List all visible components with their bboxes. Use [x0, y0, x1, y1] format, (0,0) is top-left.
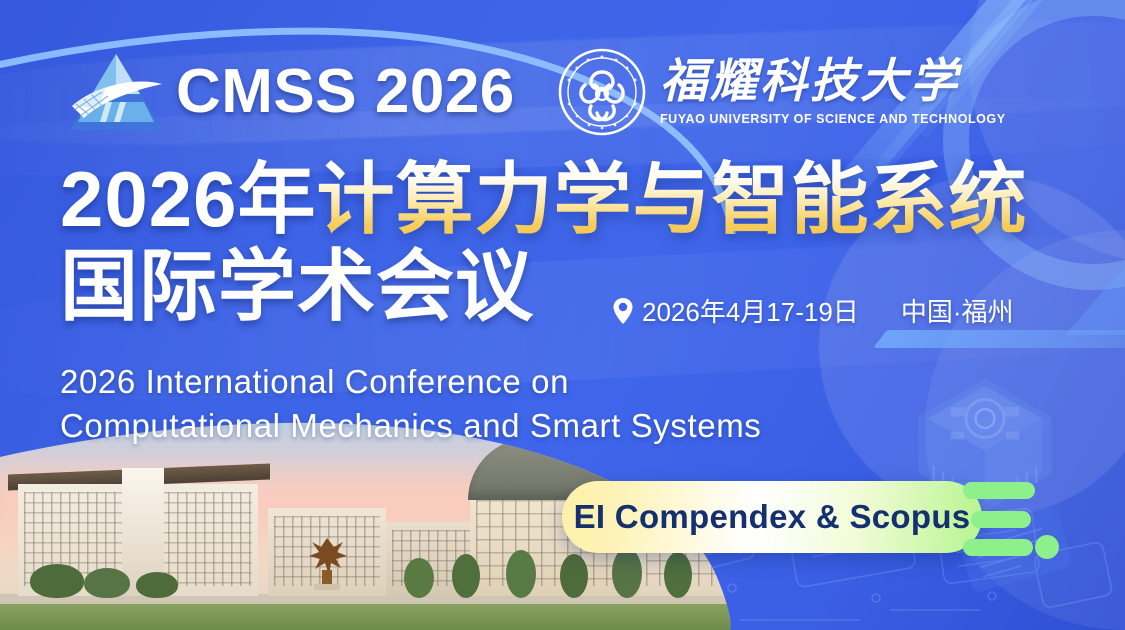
location-pin-icon — [612, 297, 634, 325]
university-lockup: 福耀科技大学 FUYAO UNIVERSITY OF SCIENCE AND T… — [558, 48, 1006, 136]
university-name-en: FUYAO UNIVERSITY OF SCIENCE AND TECHNOLO… — [660, 112, 1006, 126]
indexing-badge-label: EI Compendex & Scopus — [574, 498, 971, 536]
university-name-cn: 福耀科技大学 — [660, 58, 1006, 107]
english-subtitle-line-1: 2026 International Conference on — [60, 360, 960, 404]
title-topic: 计算力学与智能系统 — [317, 155, 1028, 243]
english-subtitle-line-2: Computational Mechanics and Smart System… — [60, 404, 960, 448]
green-e-mark-icon — [963, 478, 1063, 566]
title-year: 2026年 — [60, 155, 317, 243]
conference-location: 中国·福州 — [901, 292, 1014, 329]
indexing-badge[interactable]: EI Compendex & Scopus — [562, 481, 982, 553]
date-location-row: 2026年4月17-19日 中国·福州 — [612, 292, 1013, 329]
conference-date: 2026年4月17-19日 — [642, 292, 859, 329]
cmss-triangle-logo-icon — [62, 46, 170, 138]
cmss-acronym: CMSS 2026 — [176, 61, 515, 123]
brand-header: CMSS 2026 — [62, 46, 515, 138]
campus-sculpture — [300, 530, 354, 590]
angled-band-decoration — [873, 330, 1125, 348]
triangle-accent-decoration — [1065, 255, 1125, 335]
conference-banner: CMSS 2026 — [0, 0, 1125, 630]
english-subtitle: 2026 International Conference on Computa… — [60, 360, 960, 447]
fuyao-university-seal-icon — [558, 48, 646, 136]
